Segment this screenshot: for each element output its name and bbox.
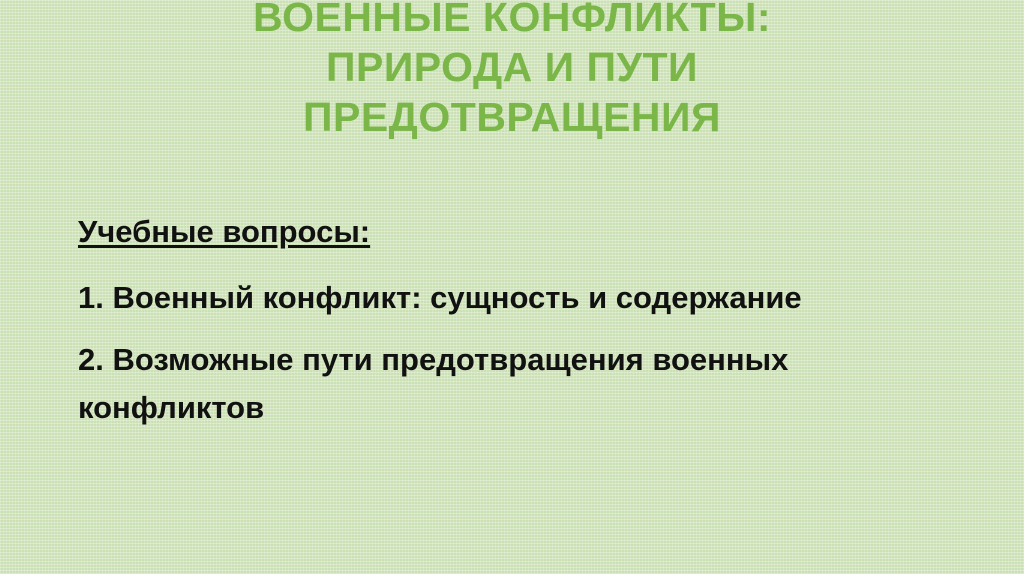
slide: ВОЕННЫЕ КОНФЛИКТЫ: ПРИРОДА И ПУТИ ПРЕДОТ…	[0, 0, 1024, 574]
slide-body: Учебные вопросы: 1. Военный конфликт: су…	[78, 212, 978, 432]
list-item: 2. Возможные пути предотвращения военных…	[78, 336, 908, 432]
title-line-2: ПРИРОДА И ПУТИ	[0, 42, 1024, 92]
list-item: 1. Военный конфликт: сущность и содержан…	[78, 274, 908, 322]
title-line-3: ПРЕДОТВРАЩЕНИЯ	[0, 92, 1024, 142]
body-heading: Учебные вопросы:	[78, 212, 370, 252]
title-line-1: ВОЕННЫЕ КОНФЛИКТЫ:	[0, 0, 1024, 42]
slide-title: ВОЕННЫЕ КОНФЛИКТЫ: ПРИРОДА И ПУТИ ПРЕДОТ…	[0, 0, 1024, 142]
